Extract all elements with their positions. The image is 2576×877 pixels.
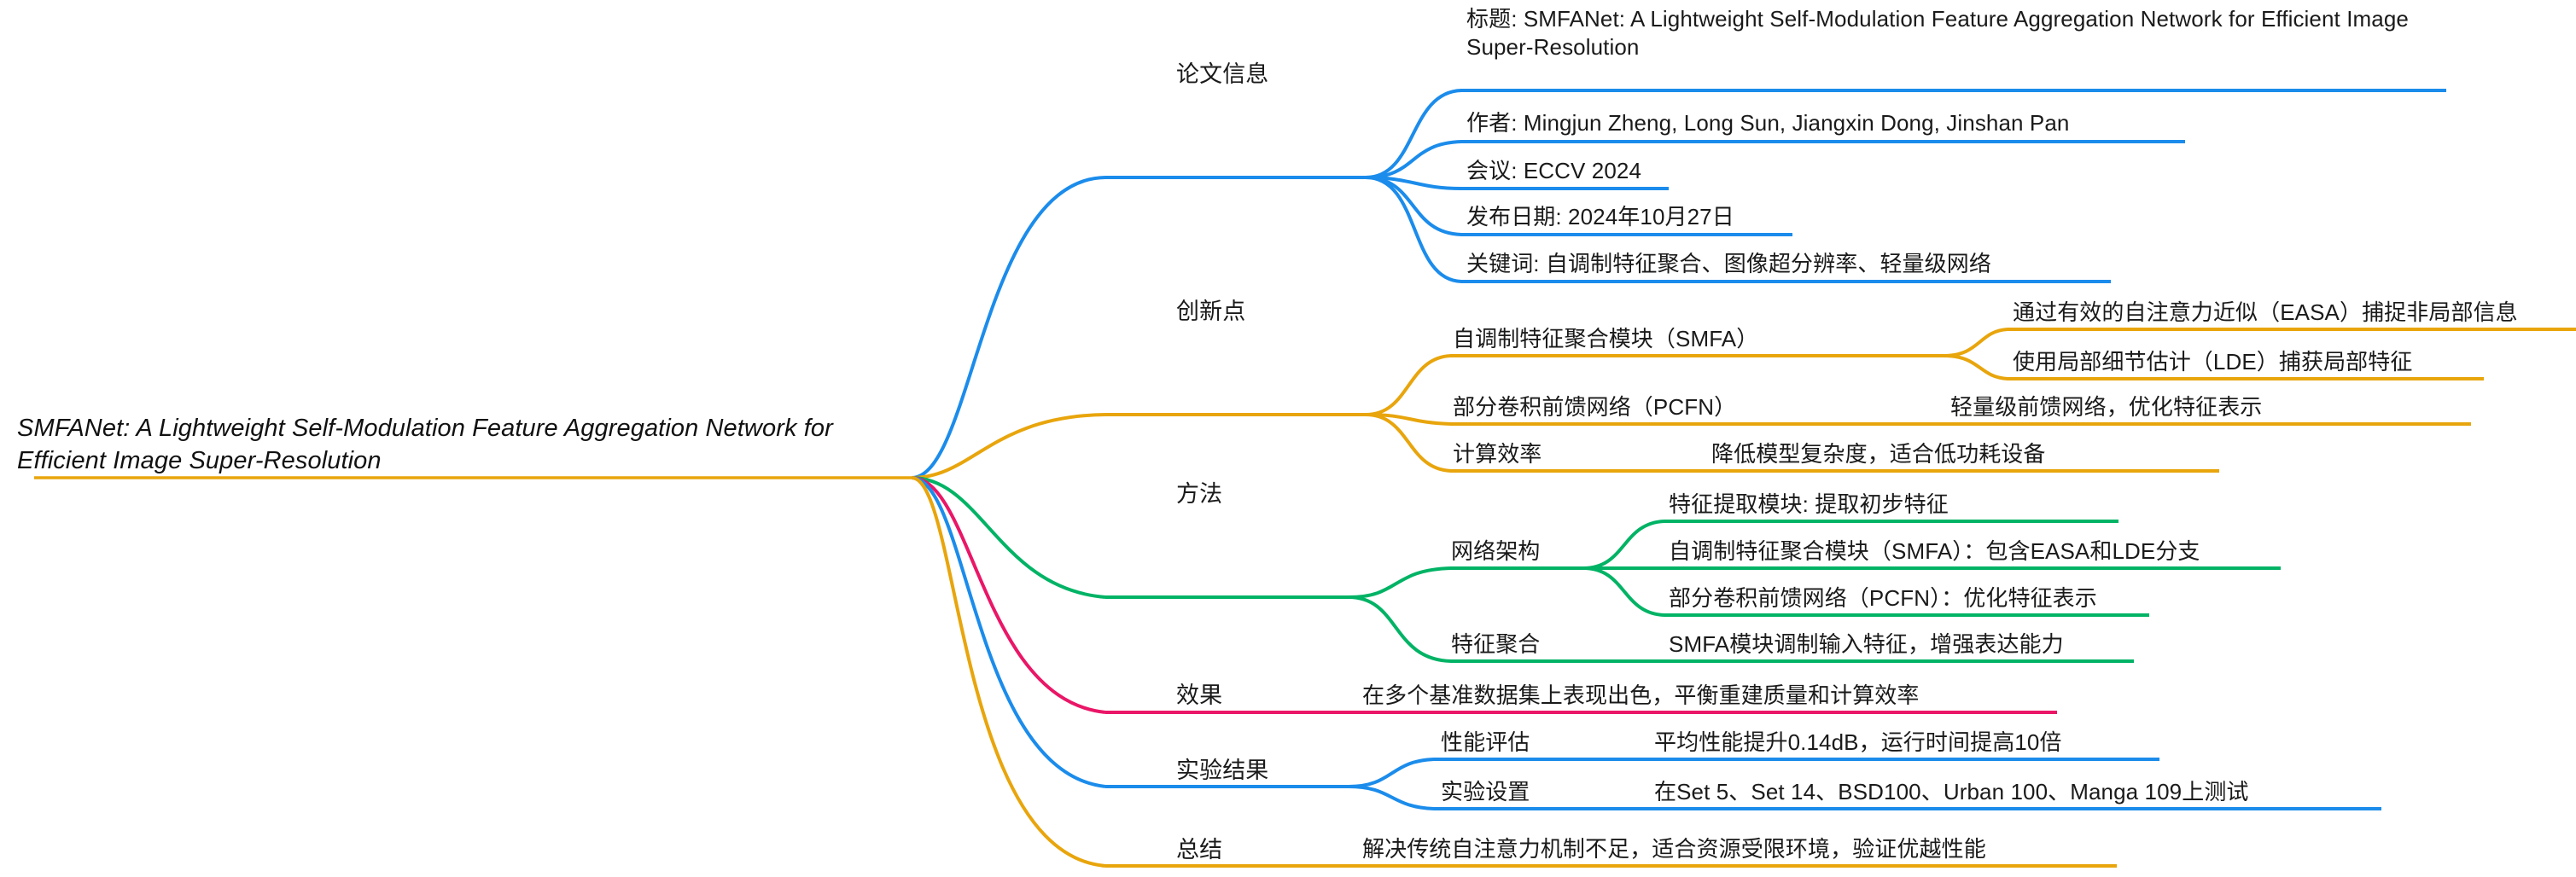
node-compute-efficiency[interactable]: 计算效率 xyxy=(1453,440,1542,468)
node-experiment-setup[interactable]: 实验设置 xyxy=(1441,778,1530,806)
node-lde-detail[interactable]: 使用局部细节估计（LDE）捕获局部特征 xyxy=(2013,348,2412,376)
node-paper-authors[interactable]: 作者: Mingjun Zheng, Long Sun, Jiangxin Do… xyxy=(1466,109,2069,137)
branch-label-paper-info[interactable]: 论文信息 xyxy=(1176,60,1268,90)
node-network-architecture[interactable]: 网络架构 xyxy=(1451,537,1540,566)
node-paper-title[interactable]: 标题: SMFANet: A Lightweight Self-Modulati… xyxy=(1466,5,2457,62)
node-smfa-branches[interactable]: 自调制特征聚合模块（SMFA）：包含EASA和LDE分支 xyxy=(1669,537,2200,566)
branch-label-effect[interactable]: 效果 xyxy=(1176,681,1222,711)
node-easa-detail[interactable]: 通过有效的自注意力近似（EASA）捕捉非局部信息 xyxy=(2013,299,2518,327)
node-smfa-module[interactable]: 自调制特征聚合模块（SMFA） xyxy=(1453,325,1758,353)
node-pcfn-module[interactable]: 部分卷积前馈网络（PCFN） xyxy=(1453,393,1736,421)
branch-label-experiments[interactable]: 实验结果 xyxy=(1176,756,1268,786)
node-experiment-setup-detail[interactable]: 在Set 5、Set 14、BSD100、Urban 100、Manga 109… xyxy=(1654,778,2249,806)
node-compute-efficiency-detail[interactable]: 降低模型复杂度，适合低功耗设备 xyxy=(1711,440,2046,468)
branch-label-innovations[interactable]: 创新点 xyxy=(1176,297,1245,327)
branch-label-method[interactable]: 方法 xyxy=(1176,479,1222,509)
branch-label-summary[interactable]: 总结 xyxy=(1176,835,1222,865)
node-paper-keywords[interactable]: 关键词: 自调制特征聚合、图像超分辨率、轻量级网络 xyxy=(1466,250,1991,278)
node-performance-eval[interactable]: 性能评估 xyxy=(1441,729,1530,757)
node-feature-aggregation-detail[interactable]: SMFA模块调制输入特征，增强表达能力 xyxy=(1669,630,2064,659)
node-paper-date[interactable]: 发布日期: 2024年10月27日 xyxy=(1466,203,1734,231)
node-feature-extraction[interactable]: 特征提取模块: 提取初步特征 xyxy=(1669,491,1949,519)
node-paper-venue[interactable]: 会议: ECCV 2024 xyxy=(1466,157,1641,185)
node-feature-aggregation[interactable]: 特征聚合 xyxy=(1451,630,1540,659)
node-pcfn-optimize[interactable]: 部分卷积前馈网络（PCFN）：优化特征表示 xyxy=(1669,584,2097,613)
mindmap-canvas: SMFANet: A Lightweight Self-Modulation F… xyxy=(0,0,2576,877)
node-pcfn-detail[interactable]: 轻量级前馈网络，优化特征表示 xyxy=(1950,393,2262,421)
mindmap-root-node[interactable]: SMFANet: A Lightweight Self-Modulation F… xyxy=(17,413,905,477)
node-effect-detail[interactable]: 在多个基准数据集上表现出色，平衡重建质量和计算效率 xyxy=(1362,682,1920,710)
node-performance-eval-detail[interactable]: 平均性能提升0.14dB，运行时间提高10倍 xyxy=(1654,729,2062,757)
node-summary-detail[interactable]: 解决传统自注意力机制不足，适合资源受限环境，验证优越性能 xyxy=(1362,835,1986,863)
